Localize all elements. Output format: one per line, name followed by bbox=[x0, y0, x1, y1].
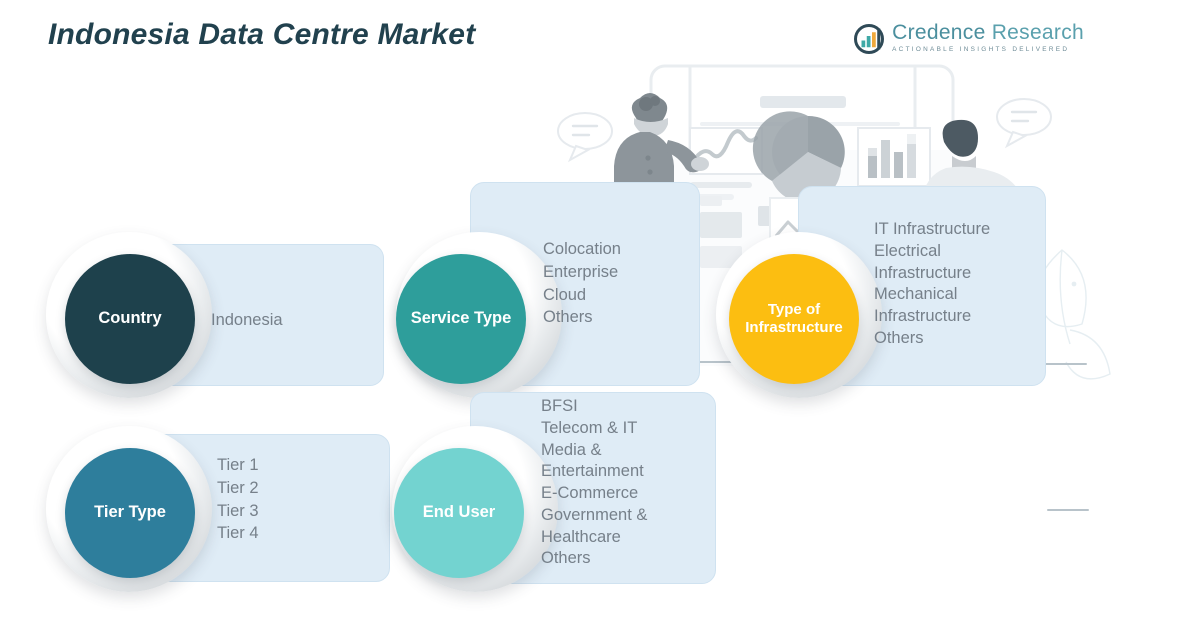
speech-bubble-left-lines bbox=[573, 126, 597, 135]
service-type-bubble[interactable]: Service Type bbox=[396, 254, 526, 384]
service-type-items: Colocation Enterprise Cloud Others bbox=[543, 238, 703, 329]
speech-bubble-right-lines bbox=[1012, 112, 1036, 121]
type-of-infrastructure-items: IT Infrastructure Electrical Infrastruct… bbox=[874, 219, 1054, 350]
bar-chart-circle-icon bbox=[854, 24, 884, 54]
brand-tagline: Actionable Insights Delivered bbox=[892, 47, 1084, 53]
speech-bubble-right bbox=[997, 99, 1051, 146]
brand-logo[interactable]: Credence Research Actionable Insights De… bbox=[854, 22, 1084, 54]
end-user-items: BFSI Telecom & IT Media & Entertainment … bbox=[541, 396, 721, 570]
country-items: Indonesia bbox=[211, 309, 371, 332]
brand-name-primary: Credence bbox=[892, 21, 985, 44]
country-bubble[interactable]: Country bbox=[65, 254, 195, 384]
end-user-bubble[interactable]: End User bbox=[394, 448, 524, 578]
brand-name-secondary: Research bbox=[986, 21, 1084, 44]
tier-type-items: Tier 1 Tier 2 Tier 3 Tier 4 bbox=[217, 454, 377, 545]
speech-bubble-left bbox=[558, 113, 612, 160]
type-of-infrastructure-bubble[interactable]: Type of Infrastructure bbox=[729, 254, 859, 384]
tier-type-bubble[interactable]: Tier Type bbox=[65, 448, 195, 578]
line-chart bbox=[690, 128, 762, 200]
page-title: Indonesia Data Centre Market bbox=[48, 18, 475, 52]
infographic-canvas: Indonesia Data Centre Market Credence Re… bbox=[0, 0, 1180, 637]
bar-chart bbox=[858, 128, 930, 186]
brand-name: Credence Research bbox=[892, 22, 1084, 43]
